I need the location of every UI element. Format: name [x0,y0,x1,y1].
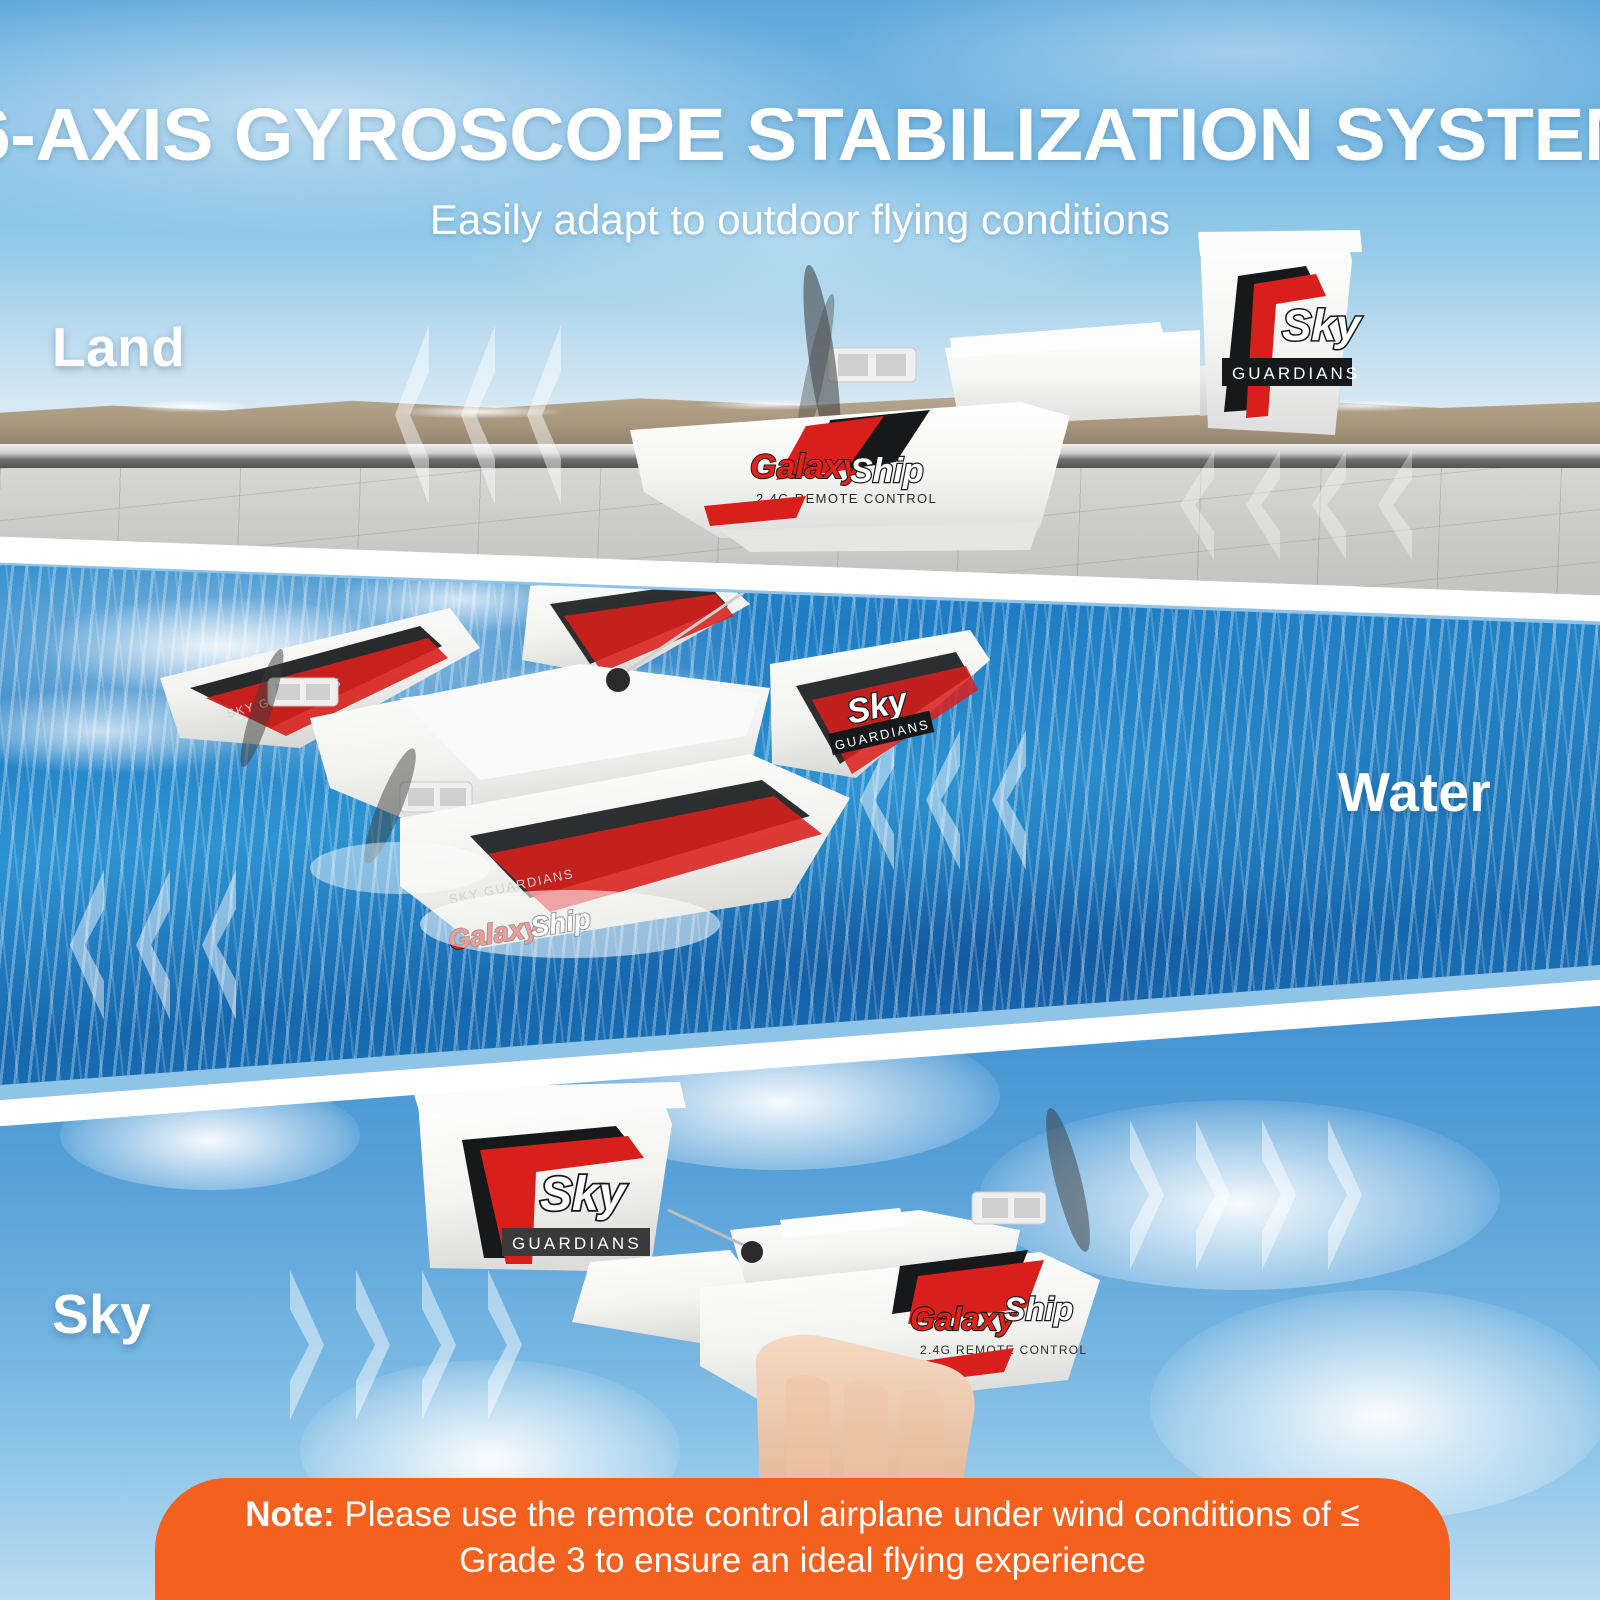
note-prefix: Note: [245,1495,334,1534]
page-title: 6-AXIS GYROSCOPE STABILIZATION SYSTEM [0,92,1600,177]
chevron-group-sky-right [1130,1120,1430,1270]
mode-label-water: Water [1338,760,1491,824]
sky-tail-brand: Sky [540,1168,628,1221]
note-text: Please use the remote control airplane u… [335,1495,1360,1580]
aircraft-water: SKY GUARDIANS SKY GUARDIANS [150,568,1050,988]
tail-brand-text: Sky [1282,301,1363,350]
sky-logo-ship: Ship [1004,1291,1073,1327]
fuselage-logo-ship: Ship [850,452,924,490]
mode-label-sky: Sky [52,1282,151,1346]
product-infographic: Sky GUARDIANS Galaxy Ship 2.4G REMOTE CO… [0,0,1600,1600]
tail-brand-sub: GUARDIANS [1232,364,1360,383]
note-banner: Note: Please use the remote control airp… [155,1478,1450,1600]
chevron-group-land-left [395,325,625,505]
aircraft-land: Sky GUARDIANS Galaxy Ship 2.4G REMOTE CO… [600,230,1380,560]
sky-logo-galaxy: Galaxy [910,1301,1017,1337]
fuselage-logo-galaxy: Galaxy [750,448,864,486]
sky-tail-brand-sub: GUARDIANS [512,1234,642,1253]
mode-label-land: Land [52,315,185,379]
aircraft-sky: Sky GUARDIANS Galaxy Ship 2.4G REMOTE CO… [400,1080,1120,1500]
page-subtitle: Easily adapt to outdoor flying condition… [0,196,1600,244]
